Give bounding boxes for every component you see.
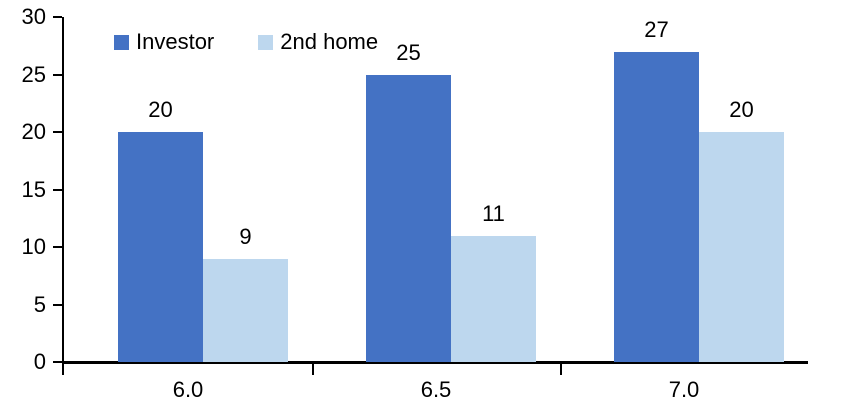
bar-investor-6.5[interactable] xyxy=(366,75,451,363)
bar-2nd-home-6.0[interactable] xyxy=(203,259,288,363)
x-axis-tick-mark xyxy=(560,364,562,375)
y-axis-tick-label: 30 xyxy=(0,6,46,28)
x-axis-tick-label: 6.5 xyxy=(376,378,496,402)
y-axis-tick-mark xyxy=(53,246,62,248)
x-axis-tick-label: 7.0 xyxy=(624,378,744,402)
y-axis-tick-mark xyxy=(53,74,62,76)
legend-swatch-second-home-icon xyxy=(258,35,273,50)
y-axis-tick-label: 20 xyxy=(0,121,46,143)
y-axis-tick-label: 5 xyxy=(0,294,46,316)
chart-legend: Investor 2nd home xyxy=(114,31,378,53)
y-axis-tick-mark xyxy=(53,131,62,133)
legend-item-second-home[interactable]: 2nd home xyxy=(258,31,378,53)
bar-chart: 051015202530 6.06.57.0 20925112720 Inves… xyxy=(0,0,852,410)
bar-value-label: 9 xyxy=(201,226,291,248)
y-axis-tick-mark xyxy=(53,361,62,363)
bar-investor-6.0[interactable] xyxy=(118,132,203,362)
bar-2nd-home-6.5[interactable] xyxy=(451,236,536,363)
y-axis-tick-mark xyxy=(53,304,62,306)
legend-swatch-investor-icon xyxy=(114,35,129,50)
plot-area xyxy=(64,17,808,362)
bar-value-label: 11 xyxy=(449,203,539,225)
y-axis-tick-label: 15 xyxy=(0,179,46,201)
y-axis-tick-mark xyxy=(53,16,62,18)
bar-investor-7.0[interactable] xyxy=(614,52,699,363)
y-axis-tick-label: 10 xyxy=(0,236,46,258)
x-axis-tick-label: 6.0 xyxy=(128,378,248,402)
legend-label-investor: Investor xyxy=(136,31,214,53)
bar-value-label: 27 xyxy=(612,19,702,41)
bar-value-label: 20 xyxy=(116,99,206,121)
y-axis-tick-label: 25 xyxy=(0,64,46,86)
x-axis-tick-mark xyxy=(62,364,64,375)
legend-label-second-home: 2nd home xyxy=(280,31,378,53)
bar-2nd-home-7.0[interactable] xyxy=(699,132,784,362)
y-axis-tick-mark xyxy=(53,189,62,191)
x-axis-tick-mark xyxy=(312,364,314,375)
bar-value-label: 20 xyxy=(697,99,787,121)
y-axis-tick-label: 0 xyxy=(0,351,46,373)
legend-item-investor[interactable]: Investor xyxy=(114,31,214,53)
